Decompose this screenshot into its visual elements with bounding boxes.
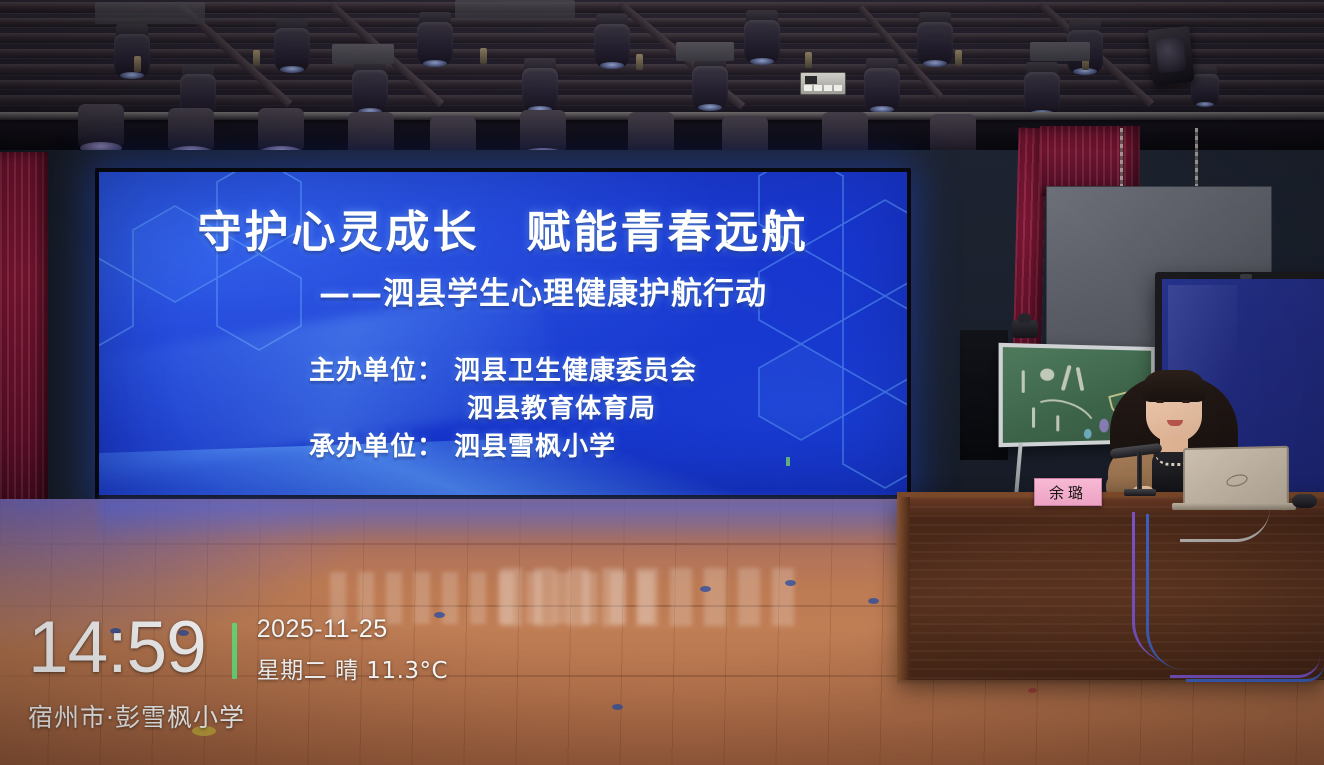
camera-osd-overlay: 14:59 2025-11-25 星期二 晴 11.3°C 宿州市·彭雪枫小学 [0, 595, 560, 765]
camera-feed-frame: 守护心灵成长 赋能青春远航 ——泗县学生心理健康护航行动 主办单位： 泗县卫生健… [0, 0, 1324, 765]
led-subtitle: ——泗县学生心理健康护航行动 [239, 268, 767, 313]
osd-location: 宿州市·彭雪枫小学 [28, 698, 245, 734]
nameplate: 余璐 [1034, 478, 1102, 506]
led-title: 守护心灵成长 赋能青春远航 [198, 196, 809, 260]
microphone-base [1124, 489, 1156, 496]
par-can-light [168, 108, 214, 152]
stage-light-fixture [1190, 66, 1220, 108]
stage-light-fixture [1022, 62, 1062, 118]
par-can-light [258, 108, 304, 152]
dimmer-panel [1030, 42, 1090, 61]
stage-light-fixture [415, 12, 455, 68]
laptop-logo-icon [1225, 472, 1249, 488]
stage-light-fixture [690, 56, 730, 112]
lighting-controller-box [800, 72, 846, 95]
network-cable-floor [1186, 664, 1324, 682]
stage-light-fixture [862, 58, 902, 114]
stage-light-fixture [350, 60, 390, 116]
microphone-stem [1137, 452, 1142, 492]
mouse-device [1292, 494, 1317, 508]
led-organizer-line-1: 主办单位： 泗县卫生健康委员会 [309, 353, 697, 391]
led-organizer-line-2: 泗县教育体育局 [309, 391, 697, 429]
led-wall-display: 守护心灵成长 赋能青春远航 ——泗县学生心理健康护航行动 主办单位： 泗县卫生健… [99, 172, 907, 499]
led-host-line: 承办单位： 泗县雪枫小学 [309, 429, 697, 467]
osd-weekday-weather: 星期二 晴 11.3°C [257, 651, 448, 685]
ceiling-duct [95, 2, 205, 24]
stage-light-fixture [592, 14, 632, 70]
osd-divider [232, 623, 237, 679]
ceiling-duct [455, 0, 575, 20]
stage-light-fixture [742, 10, 782, 66]
stage-light-fixture [272, 18, 312, 74]
osd-clock: 14:59 [28, 614, 206, 681]
laptop-screen [1183, 446, 1289, 510]
stage-light-fixture [112, 24, 152, 80]
stage-light-fixture [520, 58, 560, 114]
dimmer-panel [676, 42, 734, 61]
camera-device [1012, 320, 1038, 338]
par-can-light [520, 110, 566, 154]
hanging-speaker [1147, 26, 1195, 86]
par-can-light [78, 104, 124, 148]
stage-light-fixture [915, 12, 955, 68]
display-camera-icon [1240, 274, 1252, 279]
led-organizer-block: 主办单位： 泗县卫生健康委员会 泗县教育体育局 承办单位： 泗县雪枫小学 [309, 353, 697, 467]
dimmer-panel [332, 44, 394, 64]
osd-date: 2025-11-25 [257, 615, 448, 644]
stage-curtain-left [0, 152, 48, 512]
